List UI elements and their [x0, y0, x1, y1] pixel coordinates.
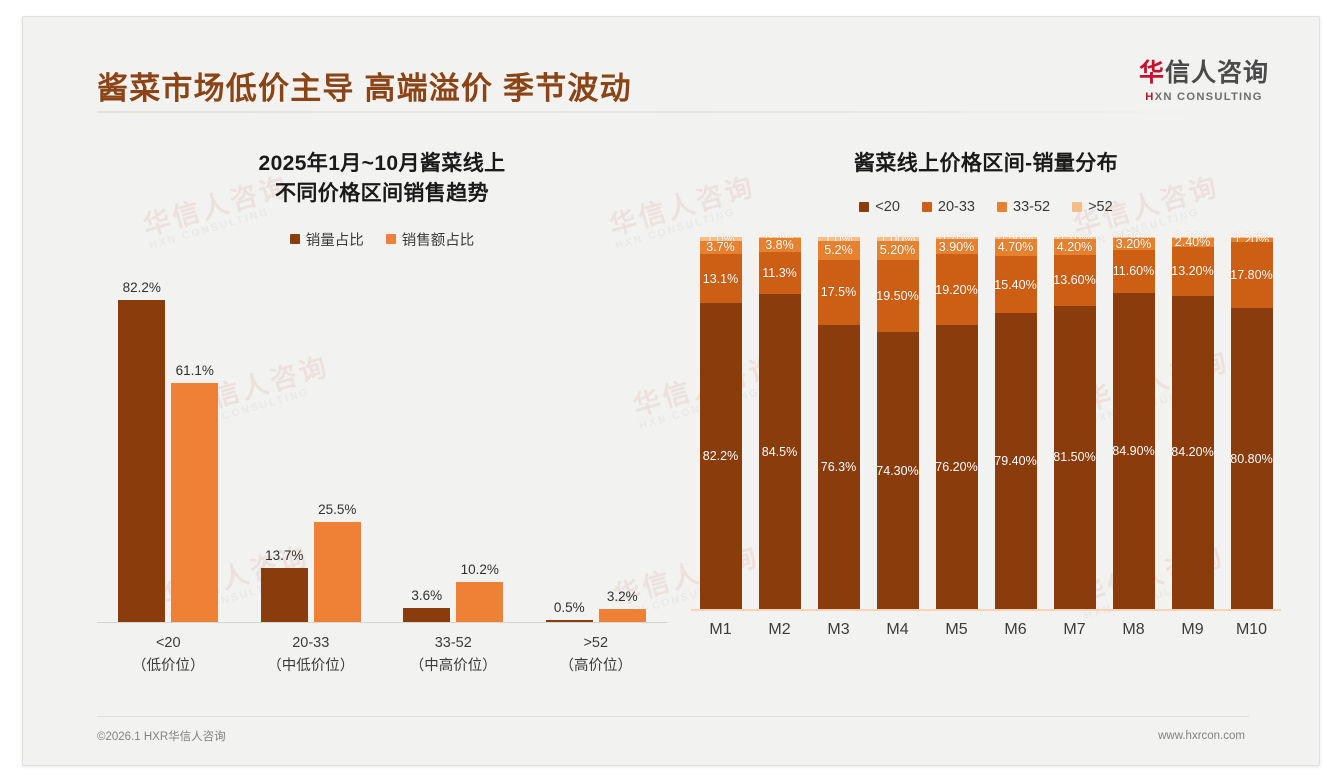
stack-segment-label: 81.50%	[1053, 450, 1095, 464]
stack-segment[interactable]: 79.40%	[995, 313, 1037, 608]
stacked-bar[interactable]: 0.70%4.20%13.60%81.50%	[1054, 237, 1096, 609]
bar-group: 0.5%3.2%	[525, 270, 668, 622]
bar-column[interactable]: 25.5%	[314, 270, 361, 622]
stacked-bar[interactable]: 0.20%2.40%13.20%84.20%	[1172, 237, 1214, 609]
left-chart-legend: 销量占比销售额占比	[97, 229, 667, 250]
stack-segment[interactable]: 4.20%	[1054, 239, 1096, 255]
x-axis-tick: 20-33（中低价位）	[240, 632, 383, 678]
x-axis-tick-sublabel: （低价位）	[97, 655, 240, 678]
right-chart-x-axis: M1M2M3M4M5M6M7M8M9M10	[691, 621, 1281, 639]
right-chart-title-text: 酱菜线上价格区间-销量分布	[854, 152, 1118, 175]
stacked-bar-column[interactable]: 0.20%2.40%13.20%84.20%	[1163, 237, 1222, 609]
bar-group: 13.7%25.5%	[240, 270, 383, 622]
left-chart-title-line2: 不同价格区间销售趋势	[97, 179, 667, 209]
stack-segment-label: 76.20%	[935, 460, 977, 474]
right-chart-title: 酱菜线上价格区间-销量分布	[691, 149, 1281, 179]
stack-segment-label: 80.80%	[1230, 452, 1272, 466]
x-axis-tick-label: M7	[1045, 621, 1104, 639]
stacked-bar[interactable]: 0.50%4.70%15.40%79.40%	[995, 237, 1037, 609]
stack-segment[interactable]: 19.50%	[877, 260, 919, 333]
bar-value-label: 13.7%	[265, 548, 303, 563]
stack-segment[interactable]: 84.5%	[759, 294, 801, 608]
stack-segment[interactable]: 2.40%	[1172, 238, 1214, 247]
legend-swatch-icon	[859, 202, 869, 212]
stack-segment-label: 3.7%	[706, 240, 735, 254]
x-axis-tick-label: M9	[1163, 621, 1222, 639]
right-legend-item-0[interactable]: <20	[859, 199, 900, 215]
stack-segment[interactable]: 84.90%	[1113, 293, 1155, 609]
stack-segment[interactable]: 3.8%	[759, 238, 801, 252]
right-chart-plot-area: 1.0%3.7%13.1%82.2%0.4%3.8%11.3%84.5%1.0%…	[691, 237, 1281, 611]
stack-segment-label: 84.90%	[1112, 444, 1154, 458]
stack-segment-label: 19.20%	[935, 283, 977, 297]
x-axis-tick-label: M3	[809, 621, 868, 639]
footer-copyright: ©2026.1 HXR华信人咨询	[97, 728, 226, 744]
slide-header: 酱菜市场低价主导 高端溢价 季节波动 华信人咨询 HXN CONSULTING	[23, 17, 1319, 113]
left-chart-panel: 2025年1月~10月酱菜线上 不同价格区间销售趋势 销量占比销售额占比 82.…	[97, 149, 667, 709]
legend-swatch-icon	[1072, 202, 1082, 212]
x-axis-tick-sublabel: （中高价位）	[382, 655, 525, 678]
stack-segment-label: 79.40%	[994, 454, 1036, 468]
x-axis-tick-label: 33-52	[435, 635, 472, 651]
x-axis-tick-label: >52	[583, 635, 608, 651]
bar-group: 3.6%10.2%	[382, 270, 525, 622]
bar-column[interactable]: 10.2%	[456, 270, 503, 622]
bar-column[interactable]: 13.7%	[261, 270, 308, 622]
stack-segment-label: 82.2%	[703, 449, 738, 463]
stack-segment-label: 3.20%	[1116, 237, 1151, 251]
stack-segment[interactable]: 76.20%	[936, 325, 978, 608]
stack-segment[interactable]: 3.20%	[1113, 238, 1155, 250]
stack-segment[interactable]: 17.5%	[818, 260, 860, 325]
stack-segment-label: 3.8%	[765, 238, 794, 252]
legend-swatch-icon	[386, 234, 396, 244]
bar[interactable]	[171, 383, 218, 622]
bar-value-label: 25.5%	[318, 502, 356, 517]
brand-logo: 华信人咨询 HXN CONSULTING	[1139, 61, 1269, 103]
bar-column[interactable]: 61.1%	[171, 270, 218, 622]
bar-value-label: 3.2%	[607, 589, 638, 604]
stack-segment-label: 5.20%	[880, 243, 915, 257]
legend-label: 销量占比	[306, 229, 364, 250]
bar[interactable]	[403, 608, 450, 622]
stack-segment[interactable]: 3.90%	[936, 239, 978, 254]
page-title: 酱菜市场低价主导 高端溢价 季节波动	[97, 63, 632, 108]
bar-value-label: 3.6%	[411, 588, 442, 603]
stacked-bar-column[interactable]: 1.0%5.2%17.5%76.3%	[809, 237, 868, 609]
bar-column[interactable]: 0.5%	[546, 270, 593, 622]
stack-segment-label: 15.40%	[994, 278, 1036, 292]
bar[interactable]	[599, 609, 646, 622]
stacked-bar[interactable]: 0.30%3.20%11.60%84.90%	[1113, 237, 1155, 609]
x-axis-tick-label: M10	[1222, 621, 1281, 639]
header-divider	[97, 111, 1249, 113]
logo-cn-rest: 信人咨询	[1165, 59, 1269, 87]
stack-segment-label: 3.90%	[939, 240, 974, 254]
x-axis-tick-label: M1	[691, 621, 750, 639]
slide-canvas: 华信人咨询 HXN CONSULTING 华信人咨询 HXN CONSULTIN…	[22, 16, 1320, 766]
left-chart-x-axis: <20（低价位）20-33（中低价位）33-52（中高价位）>52（高价位）	[97, 632, 667, 678]
stack-segment-label: 84.5%	[762, 445, 797, 459]
stack-segment[interactable]: 5.2%	[818, 241, 860, 260]
stack-segment-label: 11.60%	[1113, 264, 1154, 278]
bar-group: 82.2%61.1%	[97, 270, 240, 622]
stacked-bar[interactable]: 1.0%5.2%17.5%76.3%	[818, 237, 860, 609]
legend-label: 33-52	[1013, 199, 1050, 215]
legend-label: <20	[875, 199, 900, 215]
stack-segment[interactable]: 4.70%	[995, 239, 1037, 256]
right-legend-item-1[interactable]: 20-33	[922, 199, 975, 215]
logo-en-text: HXN CONSULTING	[1139, 91, 1269, 103]
stack-segment-label: 4.70%	[998, 240, 1033, 254]
footer-divider	[97, 716, 1249, 717]
logo-en-rest: XN CONSULTING	[1155, 91, 1263, 103]
bar[interactable]	[546, 620, 593, 622]
legend-label: >52	[1088, 199, 1113, 215]
bar-value-label: 10.2%	[461, 562, 499, 577]
stack-segment[interactable]: 80.80%	[1231, 308, 1273, 609]
bar[interactable]	[456, 582, 503, 622]
stacked-bar-column[interactable]: 0.70%3.90%19.20%76.20%	[927, 237, 986, 609]
legend-swatch-icon	[997, 202, 1007, 212]
stack-segment[interactable]: 11.3%	[759, 252, 801, 294]
bar-value-label: 82.2%	[123, 280, 161, 295]
stacked-bar-column[interactable]: 0.20%1.20%17.80%80.80%	[1222, 237, 1281, 609]
stack-segment[interactable]: 81.50%	[1054, 306, 1096, 609]
stack-segment[interactable]: 74.30%	[877, 332, 919, 608]
x-axis-tick-sublabel: （高价位）	[525, 655, 668, 678]
stacked-bar[interactable]: 0.4%3.8%11.3%84.5%	[759, 237, 801, 609]
stack-segment[interactable]: 17.80%	[1231, 242, 1273, 308]
stack-segment[interactable]: 84.20%	[1172, 296, 1214, 609]
left-chart-title: 2025年1月~10月酱菜线上 不同价格区间销售趋势	[97, 149, 667, 209]
left-legend-item-0[interactable]: 销量占比	[290, 229, 364, 250]
left-chart-plot-area: 82.2%61.1%13.7%25.5%3.6%10.2%0.5%3.2%	[97, 270, 667, 623]
stack-segment[interactable]: 11.60%	[1113, 250, 1155, 293]
slide-footer: ©2026.1 HXR华信人咨询 www.hxrcon.com	[97, 725, 1245, 747]
x-axis-tick-label: M6	[986, 621, 1045, 639]
stack-segment-label: 5.2%	[824, 243, 853, 257]
x-axis-tick-label: <20	[156, 635, 181, 651]
stack-segment[interactable]: 82.2%	[700, 303, 742, 609]
stack-segment-label: 13.20%	[1171, 264, 1213, 278]
stack-segment[interactable]: 19.20%	[936, 254, 978, 325]
stack-segment-label: 13.1%	[703, 272, 738, 286]
right-legend-item-3[interactable]: >52	[1072, 199, 1113, 215]
stack-segment[interactable]: 13.20%	[1172, 247, 1214, 296]
stacked-bar-column[interactable]: 0.30%3.20%11.60%84.90%	[1104, 237, 1163, 609]
stack-segment-label: 4.20%	[1057, 240, 1092, 254]
stacked-bar-column[interactable]: 0.50%4.70%15.40%79.40%	[986, 237, 1045, 609]
legend-label: 20-33	[938, 199, 975, 215]
stack-segment-label: 76.3%	[821, 460, 856, 474]
x-axis-tick: 33-52（中高价位）	[382, 632, 525, 678]
stack-segment-label: 11.3%	[762, 266, 797, 280]
stack-segment-label: 17.5%	[821, 285, 856, 299]
right-chart-panel: 酱菜线上价格区间-销量分布 <2020-3333-52>52 1.0%3.7%1…	[691, 149, 1281, 709]
x-axis-tick-label: 20-33	[292, 635, 329, 651]
stacked-bar-column[interactable]: 1.0%3.7%13.1%82.2%	[691, 237, 750, 609]
stacked-bar[interactable]: 0.70%3.90%19.20%76.20%	[936, 237, 978, 609]
x-axis-tick-label: M4	[868, 621, 927, 639]
bar-column[interactable]: 82.2%	[118, 270, 165, 622]
x-axis-tick-label: M5	[927, 621, 986, 639]
bar[interactable]	[314, 522, 361, 622]
footer-website: www.hxrcon.com	[1158, 730, 1245, 742]
stack-segment[interactable]: 13.60%	[1054, 255, 1096, 306]
logo-cn-text: 华信人咨询	[1139, 61, 1269, 86]
bar[interactable]	[261, 568, 308, 622]
stack-segment[interactable]: 13.1%	[700, 254, 742, 303]
stack-segment-label: 84.20%	[1171, 445, 1213, 459]
stack-segment[interactable]: 76.3%	[818, 325, 860, 609]
x-axis-tick: >52（高价位）	[525, 632, 668, 678]
stack-segment[interactable]: 5.20%	[877, 241, 919, 260]
stacked-bar-column[interactable]: 0.4%3.8%11.3%84.5%	[750, 237, 809, 609]
stacked-bar[interactable]: 0.20%1.20%17.80%80.80%	[1231, 237, 1273, 609]
bar-column[interactable]: 3.6%	[403, 270, 450, 622]
stack-segment[interactable]: 15.40%	[995, 256, 1037, 313]
x-axis-tick: <20（低价位）	[97, 632, 240, 678]
legend-swatch-icon	[290, 234, 300, 244]
stack-segment-label: 17.80%	[1230, 268, 1272, 282]
logo-en-accent: H	[1145, 91, 1154, 103]
bar-value-label: 0.5%	[554, 600, 585, 615]
x-axis-tick-sublabel: （中低价位）	[240, 655, 383, 678]
stacked-bar[interactable]: 1.00%5.20%19.50%74.30%	[877, 237, 919, 609]
stack-segment-label: 74.30%	[876, 464, 918, 478]
bar-column[interactable]: 3.2%	[599, 270, 646, 622]
x-axis-tick-label: M8	[1104, 621, 1163, 639]
stack-segment-label: 19.50%	[876, 289, 918, 303]
left-chart-title-line1: 2025年1月~10月酱菜线上	[258, 152, 505, 175]
bar[interactable]	[118, 300, 165, 621]
right-legend-item-2[interactable]: 33-52	[997, 199, 1050, 215]
stack-segment[interactable]: 3.7%	[700, 241, 742, 255]
legend-swatch-icon	[922, 202, 932, 212]
stacked-bar[interactable]: 1.0%3.7%13.1%82.2%	[700, 237, 742, 609]
stack-segment-label: 13.60%	[1053, 273, 1095, 287]
right-chart-legend: <2020-3333-52>52	[691, 199, 1281, 215]
stacked-bar-column[interactable]: 0.70%4.20%13.60%81.50%	[1045, 237, 1104, 609]
legend-label: 销售额占比	[402, 229, 475, 250]
bar-value-label: 61.1%	[176, 363, 214, 378]
stacked-bar-column[interactable]: 1.00%5.20%19.50%74.30%	[868, 237, 927, 609]
left-legend-item-1[interactable]: 销售额占比	[386, 229, 475, 250]
logo-cn-accent: 华	[1139, 59, 1165, 87]
x-axis-tick-label: M2	[750, 621, 809, 639]
